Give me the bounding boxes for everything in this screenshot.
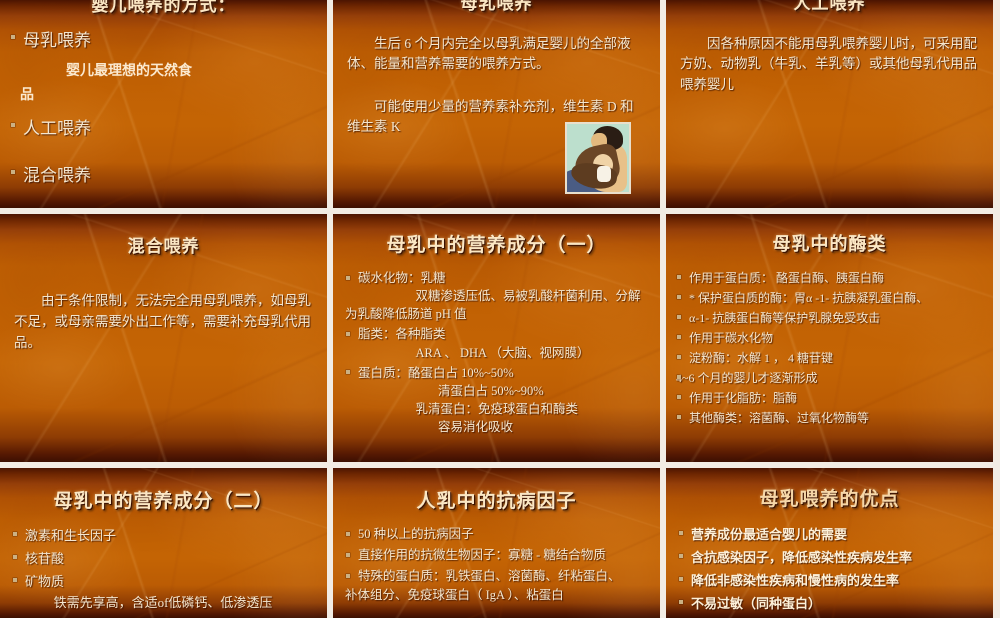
list-item: 人工喂养 — [10, 114, 317, 139]
bullet-text: 50 种以上的抗病因子 — [358, 525, 648, 544]
nutrient-list: 碳水化物：乳糖 双糖渗透压低、易被乳酸杆菌利用、分解 为乳酸降低肠道 pH 值 … — [345, 269, 648, 436]
illustration-cloth — [597, 166, 611, 182]
item-sub: 双糖渗透压低、易被乳酸杆菌利用、分解 — [358, 287, 648, 305]
line-plain: 4~6 个月的婴儿才逐渐形成 — [676, 369, 983, 387]
bullet-text: 不易过敏（同种蛋白） — [691, 593, 981, 614]
bullet-sub: 铁需先享高，含适of低磷钙、低渗透压 — [25, 592, 315, 613]
slide-title: 母乳喂养的优点 — [678, 468, 981, 511]
line-text: 作用于化脂肪：脂酶 — [689, 389, 983, 407]
bullet-text: 降低非感染性疾病和慢性病的发生率 — [691, 570, 981, 591]
line-text: α-1- 抗胰蛋白酶等保护乳腺免受攻击 — [689, 309, 983, 327]
line-plain: 淀粉酶：水解 1 ， 4 糖苷键 — [676, 349, 983, 367]
emphasis-line-1: 婴儿最理想的天然食 — [10, 60, 317, 80]
enzyme-list: 作用于蛋白质： 酪蛋白酶、胰蛋白酶 * 保护蛋白质的酶：胃α -1- 抗胰凝乳蛋… — [676, 269, 983, 427]
list-item: 脂类：各种脂类 ARA 、 DHA （大脑、视网膜） — [345, 325, 648, 361]
list-item: 特殊的蛋白质：乳铁蛋白、溶菌酶、纤粘蛋白、 补体组分、免疫球蛋白（ IgA ）、… — [345, 567, 648, 605]
bullet-text: 矿物质 — [25, 571, 315, 592]
slide-title: 母乳中的营养成分（二） — [12, 468, 315, 513]
list-item: 50 种以上的抗病因子 — [345, 525, 648, 544]
paragraph-1: 因各种原因不能用母乳喂养婴儿时，可采用配方奶、动物乳（牛乳、羊乳等）或其他母乳代… — [680, 34, 979, 95]
bullet-text: 母乳喂养 — [23, 26, 317, 51]
list-item: 直接作用的抗微生物因子：寡糖 - 糖结合物质 — [345, 546, 648, 565]
line-text: 淀粉酶：水解 1 ， 4 糖苷键 — [689, 349, 983, 367]
bullet-text: 人工喂养 — [23, 114, 317, 139]
list-item: 碳水化物：乳糖 双糖渗透压低、易被乳酸杆菌利用、分解 为乳酸降低肠道 pH 值 — [345, 269, 648, 323]
item-main: 蛋白质：酪蛋白占 10%~50% — [358, 364, 648, 382]
bullet-list: 50 种以上的抗病因子 直接作用的抗微生物因子：寡糖 - 糖结合物质 特殊的蛋白… — [345, 525, 648, 605]
list-item: 混合喂养 — [10, 161, 317, 186]
slide-thumbnail-2[interactable]: 母乳喂养 生后 6 个月内完全以母乳满足婴儿的全部液体、能量和营养需要的喂养方式… — [333, 0, 660, 208]
breastfeeding-illustration — [565, 122, 631, 194]
bullet-text: 混合喂养 — [23, 161, 317, 186]
bullet-text: 营养成份最适合婴儿的需要 — [691, 524, 981, 545]
list-item: 母乳喂养 — [10, 26, 317, 51]
bullet-list: 母乳喂养 — [10, 26, 317, 51]
slide-title: 婴儿喂养的方式： — [10, 0, 317, 16]
slide-thumbnail-4[interactable]: 混合喂养 由于条件限制，无法完全用母乳喂养，如母乳不足，或母亲需要外出工作等，需… — [0, 214, 327, 462]
item-sub: 清蛋白占 50%~90% — [358, 382, 648, 400]
bullet-text: 激素和生长因子 — [25, 525, 315, 546]
bullet-list: 营养成份最适合婴儿的需要 含抗感染因子，降低感染性疾病发生率 降低非感染性疾病和… — [678, 524, 981, 614]
line-plain: * 保护蛋白质的酶：胃α -1- 抗胰凝乳蛋白酶、 — [676, 289, 983, 307]
list-item: 作用于碳水化物 — [676, 329, 983, 347]
line-text: 作用于蛋白质： 酪蛋白酶、胰蛋白酶 — [689, 269, 983, 287]
line-plain: α-1- 抗胰蛋白酶等保护乳腺免受攻击 — [676, 309, 983, 327]
list-item: 含抗感染因子，降低感染性疾病发生率 — [678, 547, 981, 568]
list-item: 作用于化脂肪：脂酶 — [676, 389, 983, 407]
bullet-text: 特殊的蛋白质：乳铁蛋白、溶菌酶、纤粘蛋白、 — [358, 567, 648, 586]
item-sub: ARA 、 DHA （大脑、视网膜） — [358, 344, 648, 362]
slide-title: 人工喂养 — [680, 0, 979, 14]
item-sub: 容易消化吸收 — [358, 418, 648, 436]
slide-title: 混合喂养 — [14, 214, 313, 257]
list-item: 不易过敏（同种蛋白） — [678, 593, 981, 614]
line-text: 作用于碳水化物 — [689, 329, 983, 347]
item-main: 碳水化物：乳糖 — [358, 269, 648, 287]
slide-title: 母乳喂养 — [347, 0, 646, 14]
emphasis-line-2: 品 — [10, 84, 317, 104]
bullet-text: 直接作用的抗微生物因子：寡糖 - 糖结合物质 — [358, 546, 648, 565]
bullet-sub: 补体组分、免疫球蛋白（ IgA ）、粘蛋白 — [345, 586, 648, 605]
list-item: 核苷酸 — [12, 548, 315, 569]
bullet-list-2: 人工喂养 混合喂养 — [10, 114, 317, 186]
item-sub: 乳清蛋白：免疫球蛋白和酶类 — [358, 400, 648, 418]
slide-thumbnail-8[interactable]: 人乳中的抗病因子 50 种以上的抗病因子 直接作用的抗微生物因子：寡糖 - 糖结… — [333, 468, 660, 618]
paragraph-1: 由于条件限制，无法完全用母乳喂养，如母乳不足，或母亲需要外出工作等，需要补充母乳… — [14, 291, 313, 354]
list-item: 作用于蛋白质： 酪蛋白酶、胰蛋白酶 — [676, 269, 983, 287]
slide-title: 人乳中的抗病因子 — [345, 468, 648, 513]
list-item: 其他酶类：溶菌酶、过氧化物酶等 — [676, 409, 983, 427]
line-text: 其他酶类：溶菌酶、过氧化物酶等 — [689, 409, 983, 427]
list-item: 营养成份最适合婴儿的需要 — [678, 524, 981, 545]
list-item: 蛋白质：酪蛋白占 10%~50% 清蛋白占 50%~90% 乳清蛋白：免疫球蛋白… — [345, 364, 648, 437]
paragraph-1: 生后 6 个月内完全以母乳满足婴儿的全部液体、能量和营养需要的喂养方式。 — [347, 34, 646, 75]
slide-thumbnail-5[interactable]: 母乳中的营养成分（一） 碳水化物：乳糖 双糖渗透压低、易被乳酸杆菌利用、分解 为… — [333, 214, 660, 462]
slide-thumbnail-grid: 婴儿喂养的方式： 母乳喂养 婴儿最理想的天然食 品 人工喂养 混合喂养 — [0, 0, 1000, 600]
slide-title: 母乳中的酶类 — [676, 214, 983, 256]
slide-title: 母乳中的营养成分（一） — [345, 214, 648, 257]
slide-thumbnail-3[interactable]: 人工喂养 因各种原因不能用母乳喂养婴儿时，可采用配方奶、动物乳（牛乳、羊乳等）或… — [666, 0, 993, 208]
list-item: 降低非感染性疾病和慢性病的发生率 — [678, 570, 981, 591]
slide-thumbnail-7[interactable]: 母乳中的营养成分（二） 激素和生长因子 核苷酸 矿物质 铁需先享高，含适of低磷… — [0, 468, 327, 618]
line-text: * 保护蛋白质的酶：胃α -1- 抗胰凝乳蛋白酶、 — [689, 289, 983, 307]
slide-thumbnail-9[interactable]: 母乳喂养的优点 营养成份最适合婴儿的需要 含抗感染因子，降低感染性疾病发生率 降… — [666, 468, 993, 618]
list-item: 激素和生长因子 — [12, 525, 315, 546]
line-text: 4~6 个月的婴儿才逐渐形成 — [676, 369, 983, 387]
bullet-text: 含抗感染因子，降低感染性疾病发生率 — [691, 547, 981, 568]
slide-thumbnail-1[interactable]: 婴儿喂养的方式： 母乳喂养 婴儿最理想的天然食 品 人工喂养 混合喂养 — [0, 0, 327, 208]
list-item: 矿物质 铁需先享高，含适of低磷钙、低渗透压 — [12, 571, 315, 613]
slide-thumbnail-6[interactable]: 母乳中的酶类 作用于蛋白质： 酪蛋白酶、胰蛋白酶 * 保护蛋白质的酶：胃α -1… — [666, 214, 993, 462]
item-sub: 为乳酸降低肠道 pH 值 — [345, 305, 648, 323]
item-main: 脂类：各种脂类 — [358, 325, 648, 343]
bullet-text: 核苷酸 — [25, 548, 315, 569]
